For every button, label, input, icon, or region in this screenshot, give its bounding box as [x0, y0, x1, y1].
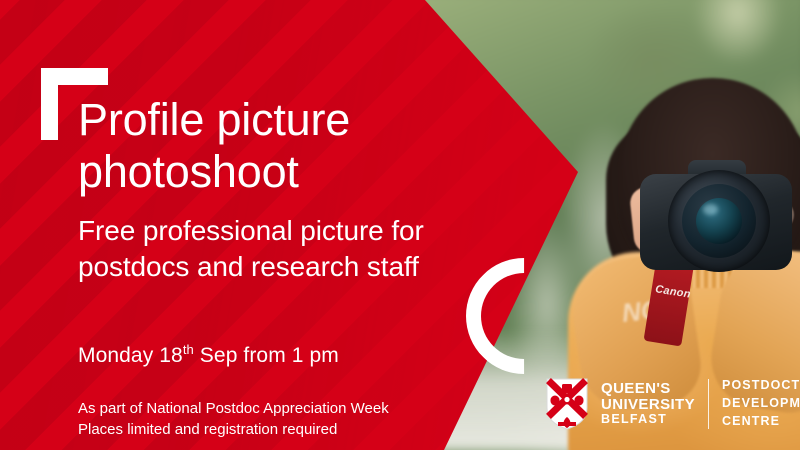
camera-lens-glint	[703, 204, 718, 215]
fineprint-line-1: As part of National Postdoc Appreciation…	[78, 398, 389, 419]
logo-lockup: QUEEN'S UNIVERSITY BELFAST POSTDOCTORAL …	[546, 377, 800, 430]
pdc-line-2: DEVELOPMENT	[722, 395, 800, 413]
qub-line-2: UNIVERSITY	[601, 397, 695, 413]
postdoctoral-development-centre-wordmark: POSTDOCTORAL DEVELOPMENT CENTRE	[722, 377, 800, 430]
event-ordinal-suffix: th	[183, 342, 194, 357]
qub-line-3: BELFAST	[601, 413, 695, 426]
queens-university-wordmark: QUEEN'S UNIVERSITY BELFAST	[601, 381, 695, 426]
event-time: Sep from 1 pm	[194, 344, 339, 367]
headline-line-1: Profile picture	[78, 94, 478, 146]
qub-line-1: QUEEN'S	[601, 381, 695, 397]
headline-line-2: photoshoot	[78, 146, 478, 198]
subheadline-line-1: Free professional picture for	[78, 213, 478, 249]
fineprint: As part of National Postdoc Appreciation…	[78, 398, 389, 441]
promotional-banner: NG Canon Profile picture photoshoot Free…	[0, 0, 800, 450]
logo-divider	[708, 379, 709, 429]
pdc-line-3: CENTRE	[722, 413, 800, 431]
camera-lens-glass	[696, 198, 742, 244]
corner-bracket-vertical-bar	[41, 68, 58, 140]
subheadline-line-2: postdocs and research staff	[78, 249, 478, 285]
event-day: Monday 18	[78, 344, 183, 367]
event-date-time: Monday 18th Sep from 1 pm	[78, 344, 339, 368]
pdc-line-1: POSTDOCTORAL	[722, 377, 800, 395]
queens-university-crest-icon	[546, 378, 588, 430]
fineprint-line-2: Places limited and registration required	[78, 419, 389, 440]
subheadline: Free professional picture for postdocs a…	[78, 213, 478, 284]
headline: Profile picture photoshoot	[78, 94, 478, 198]
